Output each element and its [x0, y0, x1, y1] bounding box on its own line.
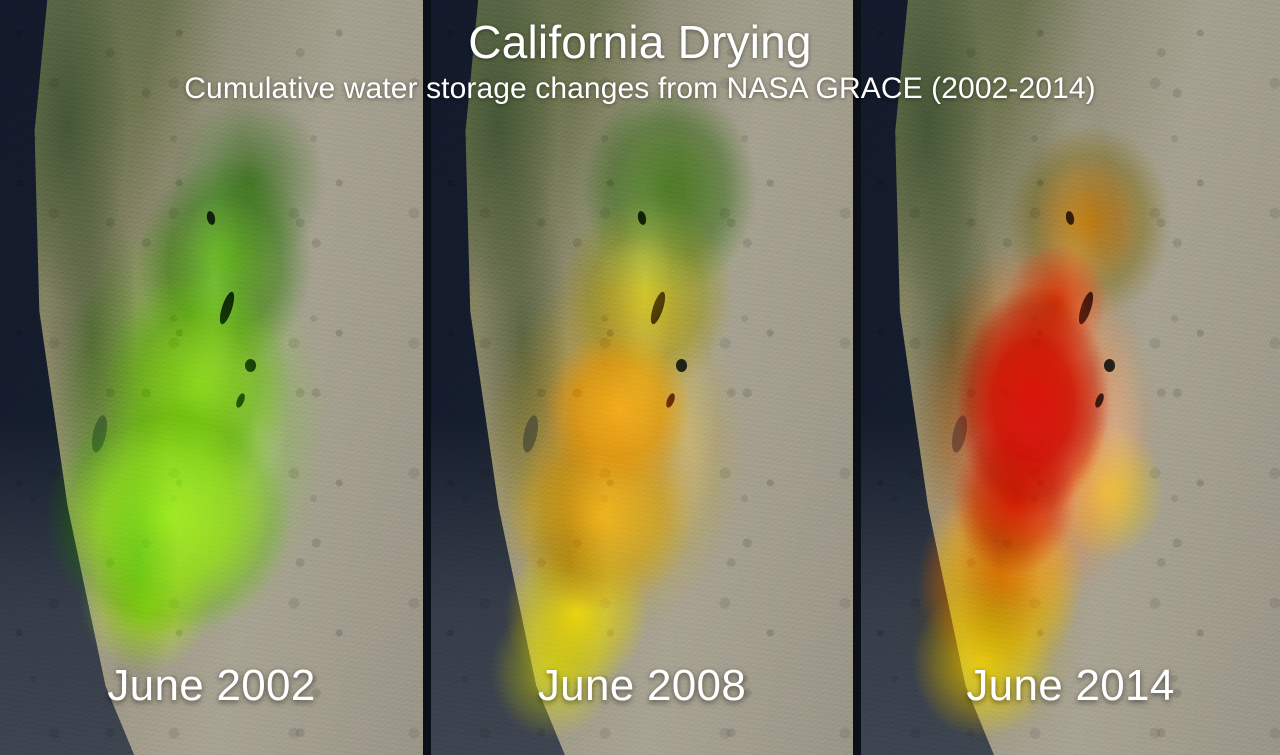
panel-divider-1: [423, 0, 431, 755]
panel-divider-2: [853, 0, 861, 755]
grace-anomaly-diffuse-2002: [0, 0, 423, 755]
california-drying-figure: June 2002 June 2008: [0, 0, 1280, 755]
panel-row: June 2002 June 2008: [0, 0, 1280, 755]
map-panel-2014[interactable]: June 2014: [861, 0, 1280, 755]
grace-anomaly-diffuse-2014: [861, 0, 1280, 755]
map-panel-2008[interactable]: June 2008: [431, 0, 853, 755]
map-panel-2002[interactable]: June 2002: [0, 0, 423, 755]
grace-anomaly-diffuse-2008: [431, 0, 853, 755]
